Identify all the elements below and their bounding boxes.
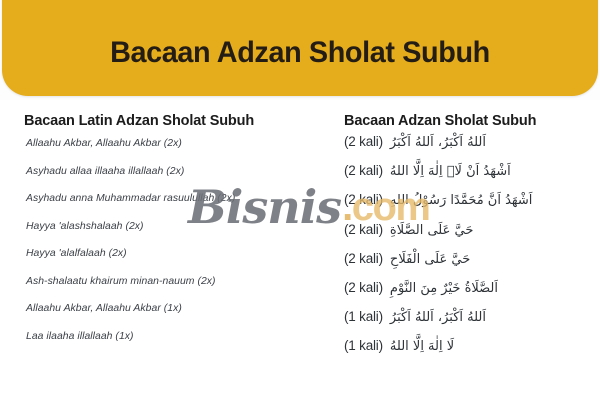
page-title: Bacaan Adzan Sholat Subuh: [14, 36, 586, 70]
arabic-text: اَلصَّلَاةُ خَيْرٌ مِنَ النَّوْمِ: [390, 281, 498, 297]
latin-line: Ash-shalaatu khairum minan-nauum (2x): [26, 276, 334, 304]
latin-column-heading: Bacaan Latin Adzan Sholat Subuh: [24, 100, 334, 129]
page-root: Bacaan Adzan Sholat Subuh Bacaan Latin A…: [0, 0, 600, 400]
arabic-text: لَا اِلٰهَ اِلَّا اللهُ: [390, 339, 454, 355]
latin-line: Allaahu Akbar, Allaahu Akbar (1x): [26, 303, 334, 331]
content-area: Bacaan Latin Adzan Sholat Subuh Allaahu …: [0, 100, 600, 400]
arabic-line: (2 kali) حَيَّ عَلَى الصَّلَاةِ: [344, 222, 590, 251]
repeat-count: (2 kali): [344, 134, 383, 149]
latin-line-list: Allaahu Akbar, Allaahu Akbar (2x) Asyhad…: [26, 138, 334, 358]
repeat-count: (2 kali): [344, 163, 383, 178]
arabic-line: (2 kali) حَيَّ عَلَى الْفَلَاحِ: [344, 251, 590, 280]
repeat-count: (2 kali): [344, 222, 383, 237]
arabic-column: Bacaan Adzan Sholat Subuh (2 kali) اَلله…: [344, 100, 590, 129]
arabic-line: (1 kali) اَللهُ اَكْبَرُ، اَللهُ اَكْبَر…: [344, 309, 590, 338]
latin-line: Hayya 'alashshalaah (2x): [26, 221, 334, 249]
latin-line: Asyhadu allaa illaaha illallaah (2x): [26, 166, 334, 194]
arabic-text: اَشْهَدُ اَنَّ مُحَمَّدًا رَسُوْلُ اللهِ: [390, 193, 533, 209]
arabic-line: (1 kali) لَا اِلٰهَ اِلَّا اللهُ: [344, 338, 590, 367]
repeat-count: (2 kali): [344, 192, 383, 207]
header-banner: Bacaan Adzan Sholat Subuh: [2, 0, 598, 96]
repeat-count: (1 kali): [344, 338, 383, 353]
repeat-count: (1 kali): [344, 309, 383, 324]
arabic-line: (2 kali) اَشْهَدُ اَنَّ مُحَمَّدًا رَسُو…: [344, 192, 590, 221]
arabic-text: اَللهُ اَكْبَرُ، اَللهُ اَكْبَرُ: [390, 310, 486, 326]
arabic-column-heading: Bacaan Adzan Sholat Subuh: [344, 100, 590, 129]
arabic-line: (2 kali) اَلصَّلَاةُ خَيْرٌ مِنَ النَّوْ…: [344, 280, 590, 309]
latin-line: Hayya 'alalfalaah (2x): [26, 248, 334, 276]
latin-line: Asyhadu anna Muhammadar rasuulullah (2x): [26, 193, 334, 221]
arabic-line: (2 kali) اَشْهَدُ اَنْ لَاۤ اِلٰهَ اِلَّ…: [344, 163, 590, 192]
latin-column: Bacaan Latin Adzan Sholat Subuh Allaahu …: [24, 100, 334, 129]
arabic-line-list: (2 kali) اَللهُ اَكْبَرُ، اَللهُ اَكْبَر…: [344, 134, 590, 368]
repeat-count: (2 kali): [344, 251, 383, 266]
latin-line: Laa ilaaha illallaah (1x): [26, 331, 334, 359]
arabic-text: حَيَّ عَلَى الصَّلَاةِ: [390, 223, 473, 239]
latin-line: Allaahu Akbar, Allaahu Akbar (2x): [26, 138, 334, 166]
arabic-text: اَللهُ اَكْبَرُ، اَللهُ اَكْبَرُ: [390, 135, 486, 151]
arabic-text: حَيَّ عَلَى الْفَلَاحِ: [390, 252, 470, 268]
arabic-text: اَشْهَدُ اَنْ لَاۤ اِلٰهَ اِلَّا اللهُ: [390, 164, 511, 180]
repeat-count: (2 kali): [344, 280, 383, 295]
arabic-line: (2 kali) اَللهُ اَكْبَرُ، اَللهُ اَكْبَر…: [344, 134, 590, 163]
